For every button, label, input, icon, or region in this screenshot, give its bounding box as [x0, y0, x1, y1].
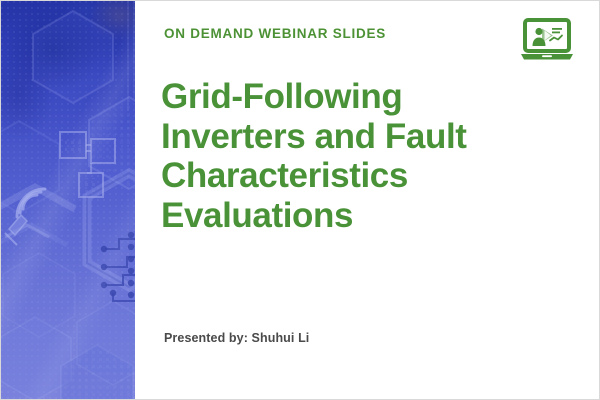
webinar-laptop-icon: [519, 18, 575, 64]
title-line: Grid-Following: [161, 77, 561, 117]
presenter-byline: Presented by: Shuhui Li: [164, 331, 309, 345]
page-title: Grid-Following Inverters and Fault Chara…: [161, 77, 561, 235]
slide-content: ON DEMAND WEBINAR SLIDES Grid-Following …: [135, 1, 599, 399]
webinar-slide-card: ON DEMAND WEBINAR SLIDES Grid-Following …: [0, 0, 600, 400]
eyebrow-label: ON DEMAND WEBINAR SLIDES: [164, 26, 386, 41]
title-line: Characteristics: [161, 156, 561, 196]
title-line: Evaluations: [161, 196, 561, 236]
tech-decoration-panel: [1, 1, 135, 400]
panel-color-veil: [1, 1, 135, 400]
title-line: Inverters and Fault: [161, 117, 561, 157]
